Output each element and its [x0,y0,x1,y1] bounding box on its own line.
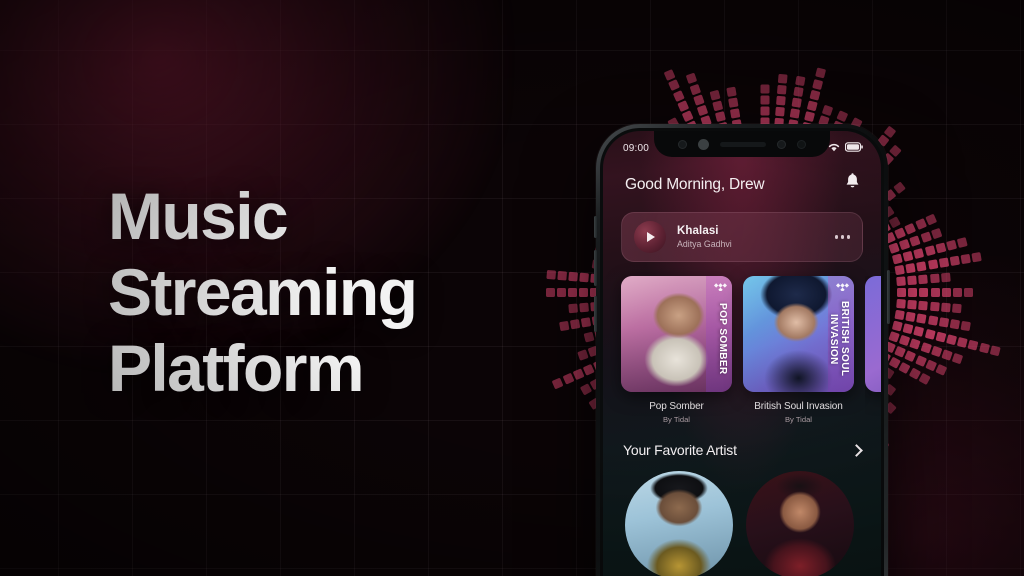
album-artwork [865,276,881,392]
favorite-artist-title: Your Favorite Artist [623,442,737,458]
phone-bezel: 09:00 [600,128,884,576]
artist-avatar[interactable] [625,471,733,576]
front-sensor-icon [678,140,687,149]
album-cover-label: POP SOMBER [710,292,728,386]
album-subtitle: By Tidal [621,415,732,424]
album-title: Pop Somber [621,401,732,412]
album-carousel[interactable]: POP SOMBER Pop Somber By Tidal BRITI [603,262,881,424]
app-header: Good Morning, Drew [603,165,881,196]
tidal-logo-icon [836,280,849,291]
phone-mockup: 09:00 [596,124,888,576]
more-options-icon[interactable] [835,235,850,238]
phone-notch [654,131,830,157]
now-playing-card[interactable]: Khalasi Aditya Gadhvi [621,212,863,262]
album-card[interactable]: BRITISH SOUL INVASION British Soul Invas… [743,276,854,424]
artist-avatar[interactable] [746,471,854,576]
album-cover-label: BRITISH SOUL INVASION [832,292,850,386]
chevron-right-icon[interactable] [850,444,863,457]
play-icon[interactable] [647,232,655,242]
status-clock: 09:00 [623,143,649,154]
album-card-partial[interactable] [865,276,881,424]
now-playing-title: Khalasi [677,225,824,237]
ambient-light-sensor-icon [797,140,806,149]
favorite-artist-list[interactable] [603,458,881,576]
album-artwork: POP SOMBER [621,276,732,392]
proximity-sensor-icon [777,140,786,149]
now-playing-artist: Aditya Gadhvi [677,239,824,249]
poster-stage: Music Streaming Platform 09:00 [0,0,1024,576]
front-camera-icon [698,139,709,150]
notification-bell-icon[interactable] [844,173,861,196]
greeting-text: Good Morning, Drew [625,176,764,194]
now-playing-artwork [634,221,666,253]
album-title: British Soul Invasion [743,401,854,412]
tidal-logo-icon [714,280,727,291]
album-subtitle: By Tidal [743,415,854,424]
battery-icon [845,139,863,157]
favorite-artist-header: Your Favorite Artist [603,424,881,458]
album-card[interactable]: POP SOMBER Pop Somber By Tidal [621,276,732,424]
earpiece-speaker [720,142,766,147]
album-artwork: BRITISH SOUL INVASION [743,276,854,392]
